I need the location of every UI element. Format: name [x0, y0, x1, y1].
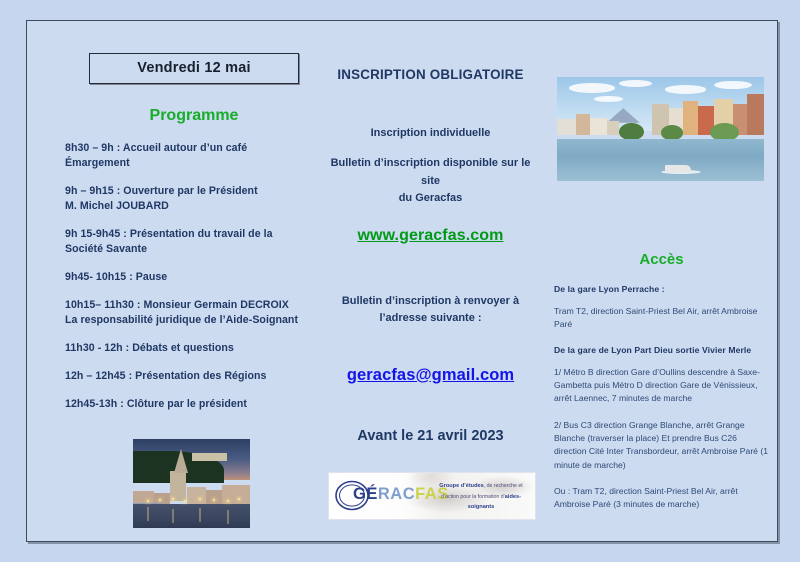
- geracfas-logo: GÉRACFAS Groupe d’études, de recherche e…: [328, 472, 536, 520]
- lyon-night-photo: [133, 439, 250, 528]
- programme-item-line2: La responsabilité juridique de l’Aide-So…: [65, 313, 323, 328]
- logo-letter-g: G: [353, 485, 366, 503]
- programme-column: Vendredi 12 mai Programme 8h30 – 9h : Ac…: [63, 53, 323, 425]
- programme-item-line1: 8h30 – 9h : Accueil autour d’un café: [65, 142, 247, 154]
- acces-body: Ou : Tram T2, direction Saint-Priest Bel…: [554, 485, 769, 512]
- programme-list: 8h30 – 9h : Accueil autour d’un café Éma…: [65, 141, 323, 412]
- acces-body: Tram T2, direction Saint-Priest Bel Air,…: [554, 305, 769, 332]
- acces-heading: Accès: [554, 251, 769, 268]
- acces-subtitle: De la gare de Lyon Part Dieu sortie Vivi…: [554, 345, 769, 355]
- website-link[interactable]: www.geracfas.com: [358, 227, 504, 245]
- programme-item-line2: Société Savante: [65, 242, 323, 257]
- programme-item-line1: 9h – 9h15 : Ouverture par le Président: [65, 185, 258, 197]
- tagline-rest-1: , de recherche et: [484, 483, 523, 489]
- programme-item-line1: 9h 15-9h45 : Présentation du travail de …: [65, 228, 273, 240]
- bulletin-dispo-line2: du Geracfas: [323, 190, 538, 208]
- list-item: 12h45-13h : Clôture par le président: [65, 397, 323, 412]
- logo-letter-e: É: [366, 485, 378, 503]
- bulletin-renvoyer-text: Bulletin d’inscription à renvoyer à l’ad…: [323, 293, 538, 328]
- programme-item-line1: 12h – 12h45 : Présentation des Régions: [65, 370, 266, 382]
- bulletin-disponible-text: Bulletin d’inscription disponible sur le…: [323, 155, 538, 208]
- deadline-text: Avant le 21 avril 2023: [323, 428, 538, 444]
- programme-item-line2: M. Michel JOUBARD: [65, 199, 323, 214]
- programme-item-line1: 10h15– 11h30 : Monsieur Germain DECROIX: [65, 299, 289, 311]
- tagline-bold-2: aides-: [505, 494, 521, 500]
- acces-body: 1/ Métro B direction Gare d’Oullins desc…: [554, 366, 769, 406]
- date-box: Vendredi 12 mai: [89, 53, 299, 84]
- inscription-column: INSCRIPTION OBLIGATOIRE Inscription indi…: [323, 67, 538, 444]
- bulletin-renvoyer-line2: l’adresse suivante :: [323, 310, 538, 328]
- list-item: 10h15– 11h30 : Monsieur Germain DECROIX …: [65, 298, 323, 328]
- acces-subtitle: De la gare Lyon Perrache :: [554, 284, 769, 294]
- list-item: 12h – 12h45 : Présentation des Régions: [65, 369, 323, 384]
- email-link[interactable]: geracfas@gmail.com: [347, 366, 514, 385]
- list-item: 11h30 - 12h : Débats et questions: [65, 341, 323, 356]
- programme-heading: Programme: [89, 107, 299, 125]
- tagline-rest-2: d’action pour la formation d’: [441, 494, 505, 500]
- programme-item-line1: 12h45-13h : Clôture par le président: [65, 398, 247, 410]
- date-label: Vendredi 12 mai: [137, 60, 250, 76]
- list-item: 9h45- 10h15 : Pause: [65, 270, 323, 285]
- tagline-bold-3: soignants: [468, 504, 494, 510]
- logo-letters-rac: RAC: [378, 485, 415, 503]
- inscription-individuelle: Inscription individuelle: [323, 127, 538, 139]
- programme-item-line1: 11h30 - 12h : Débats et questions: [65, 342, 234, 354]
- list-item: 9h – 9h15 : Ouverture par le Président M…: [65, 184, 323, 214]
- page-frame: Vendredi 12 mai Programme 8h30 – 9h : Ac…: [26, 20, 778, 542]
- bulletin-dispo-line1: Bulletin d’inscription disponible sur le…: [323, 155, 538, 190]
- bulletin-renvoyer-line1: Bulletin d’inscription à renvoyer à: [323, 293, 538, 311]
- acces-column: Accès De la gare Lyon Perrache : Tram T2…: [554, 251, 769, 524]
- programme-item-line2: Émargement: [65, 156, 323, 171]
- list-item: 9h 15-9h45 : Présentation du travail de …: [65, 227, 323, 257]
- lyon-river-photo: [557, 77, 764, 181]
- acces-body: 2/ Bus C3 direction Grange Blanche, arrê…: [554, 419, 769, 472]
- tagline-bold-1: Groupe d’études: [439, 483, 483, 489]
- list-item: 8h30 – 9h : Accueil autour d’un café Éma…: [65, 141, 323, 171]
- inscription-title: INSCRIPTION OBLIGATOIRE: [323, 67, 538, 82]
- logo-tagline: Groupe d’études, de recherche et d’actio…: [433, 481, 529, 513]
- programme-item-line1: 9h45- 10h15 : Pause: [65, 271, 167, 283]
